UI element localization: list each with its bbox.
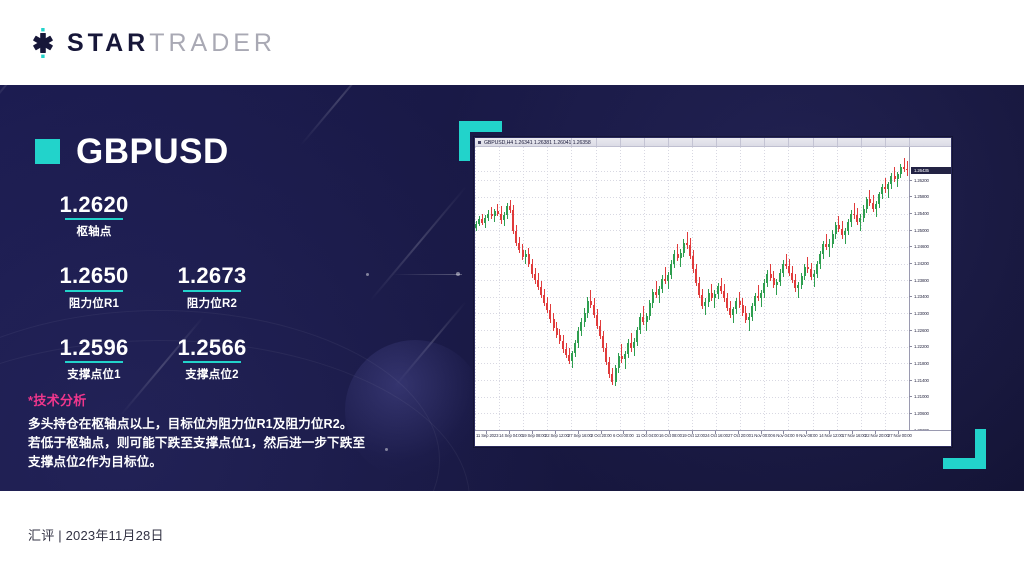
page-title: GBPUSD (76, 134, 229, 169)
price-tick-label: 1.22600 (914, 327, 929, 334)
grid-line-horizontal (475, 363, 909, 364)
pivot-row: 1.2620 枢轴点 (35, 193, 285, 239)
grid-line-horizontal (475, 247, 909, 248)
candle-body (850, 214, 852, 222)
candle-body (599, 326, 601, 336)
candle-body (553, 319, 555, 327)
candle-body (478, 219, 480, 224)
candle-body (497, 211, 499, 213)
current-price-value: 1.26435 (914, 167, 929, 174)
footer-caption: 汇评 | 2023年11月28日 (28, 525, 164, 544)
grid-line-horizontal (475, 330, 909, 331)
candle-body (776, 282, 778, 285)
price-tick-label: 1.21400 (914, 377, 929, 384)
titlebar-separator (571, 138, 572, 147)
titlebar-separator (861, 138, 862, 147)
time-tick-label: 22 Nov 20:00 (865, 433, 889, 439)
titlebar-separator (692, 138, 693, 147)
candle-body (701, 295, 703, 306)
pivot-levels: 1.2620 枢轴点 1.2650 阻力位R1 1.2673 阻力位R2 (35, 193, 285, 382)
candle-wick (829, 239, 830, 256)
price-tick: 1.24200 (909, 260, 951, 267)
candle-body (704, 302, 706, 306)
price-tick: 1.21800 (909, 360, 951, 367)
candle-body (847, 222, 849, 231)
candle-body (835, 225, 837, 233)
price-tick: 1.21400 (909, 377, 951, 384)
chart-ohlc-label: GBPUSD,H4 1.26341 1.26381 1.26041 1.2635… (484, 139, 591, 147)
candle-body (763, 283, 765, 294)
time-axis[interactable]: 11 Sep 202314 Sep 04:0019 Sep 08:0022 Se… (475, 430, 951, 446)
candle-body (584, 313, 586, 321)
candle-body (611, 374, 613, 381)
candle-body (813, 274, 815, 277)
price-tick-label: 1.20600 (914, 410, 929, 417)
candle-body (859, 218, 861, 222)
candle-body (828, 244, 830, 247)
level-s2-label: 支撑点位2 (153, 366, 271, 382)
time-tick-label: 19 Oct 12:00 (682, 433, 705, 439)
price-tick: 1.25400 (909, 210, 951, 217)
candle-body (537, 280, 539, 287)
level-r1: 1.2650 阻力位R1 (35, 264, 153, 310)
candle-body (732, 309, 734, 315)
page-header: STAR TRADER (0, 0, 1024, 85)
candle-wick (656, 281, 657, 298)
titlebar-separator (885, 138, 886, 147)
price-tick: 1.23400 (909, 293, 951, 300)
candle-wick (838, 216, 839, 232)
time-tick-label: 6 Nov 04:00 (773, 433, 795, 439)
price-tick-label: 1.23400 (914, 293, 929, 300)
analysis-heading: *技术分析 (28, 390, 398, 409)
titlebar-separator (813, 138, 814, 147)
price-tick-mark (909, 330, 912, 331)
levels-spacer (35, 311, 285, 336)
candle-body (729, 308, 731, 315)
candle-wick (680, 249, 681, 267)
brand-logo: STAR TRADER (28, 28, 276, 58)
price-tick-label: 1.24200 (914, 260, 929, 267)
price-tick-mark (909, 396, 912, 397)
candle-body (636, 330, 638, 342)
technical-analysis: *技术分析 多头持仓在枢轴点以上，目标位为阻力位R1及阻力位R2。 若低于枢轴点… (28, 390, 398, 472)
candle-body (621, 356, 623, 359)
candle-body (574, 343, 576, 353)
candle-body (816, 264, 818, 273)
candle-body (720, 286, 722, 291)
price-tick-mark (909, 196, 912, 197)
candle-body (615, 368, 617, 381)
candle-body (596, 315, 598, 326)
candle-body (884, 187, 886, 189)
candle-body (900, 167, 902, 174)
candle-body (698, 283, 700, 295)
candle-body (649, 303, 651, 315)
candle-body (822, 244, 824, 254)
price-tick: 1.25800 (909, 193, 951, 200)
candle-body (735, 301, 737, 309)
candle-body (711, 293, 713, 298)
candle-body (673, 254, 675, 264)
titlebar-separator (909, 138, 910, 147)
candle-body (695, 269, 697, 282)
level-s2-value: 1.2566 (153, 336, 271, 359)
candle-body (655, 292, 657, 295)
candle-wick (826, 234, 827, 251)
candle-wick (665, 267, 666, 284)
level-r2: 1.2673 阻力位R2 (153, 264, 271, 310)
price-tick-mark (909, 296, 912, 297)
level-underline (183, 361, 241, 363)
candle-body (518, 243, 520, 250)
level-s1: 1.2596 支撑点位1 (35, 336, 153, 382)
candle-body (726, 298, 728, 307)
chart-symbol-icon (478, 141, 481, 144)
candle-body (745, 313, 747, 320)
grid-line-horizontal (475, 214, 909, 215)
analysis-line-3: 支撑点位2作为目标位。 (28, 453, 398, 472)
candle-wick (677, 244, 678, 261)
corner-bracket-top-left (459, 121, 470, 161)
candle-wick (525, 250, 526, 264)
level-underline (65, 218, 123, 220)
candle-body (512, 210, 514, 231)
candle-body (608, 362, 610, 374)
page-footer: 汇评 | 2023年11月28日 (0, 491, 1024, 576)
candle-body (683, 243, 685, 253)
instrument-title: GBPUSD (35, 134, 229, 169)
price-tick-mark (909, 380, 912, 381)
candle-body (894, 176, 896, 178)
candle-body (853, 214, 855, 216)
level-r1-label: 阻力位R1 (35, 295, 153, 311)
grid-line-horizontal (475, 347, 909, 348)
level-underline (183, 290, 241, 292)
price-tick-label: 1.26200 (914, 177, 929, 184)
grid-line-vertical (813, 147, 814, 430)
grid-line-horizontal (475, 197, 909, 198)
candle-body (546, 303, 548, 310)
candle-body (593, 305, 595, 315)
promo-card: STAR TRADER GBPUSD (0, 0, 1024, 576)
candle-wick (854, 203, 855, 219)
levels-spacer (35, 239, 285, 264)
candle-body (779, 273, 781, 282)
trading-chart-window[interactable]: GBPUSD,H4 1.26341 1.26381 1.26041 1.2635… (474, 137, 952, 447)
candle-body (531, 264, 533, 275)
candle-body (658, 289, 660, 295)
candle-body (766, 274, 768, 283)
analysis-line-1: 多头持仓在枢轴点以上，目标位为阻力位R1及阻力位R2。 (28, 415, 398, 434)
grid-line-vertical (475, 147, 476, 430)
candle-wick (758, 285, 759, 301)
grid-line-vertical (620, 147, 621, 430)
price-tick-mark (909, 280, 912, 281)
candle-body (819, 254, 821, 264)
chart-titlebar: GBPUSD,H4 1.26341 1.26381 1.26041 1.2635… (475, 138, 951, 147)
time-tick-label: 6 Oct 00:00 (613, 433, 634, 439)
level-pivot-label: 枢轴点 (35, 223, 153, 239)
chart-plot-area[interactable]: 1.264351.262001.258001.254001.250001.246… (475, 147, 951, 430)
time-tick-label: 9 Nov 08:00 (796, 433, 818, 439)
titlebar-separator (716, 138, 717, 147)
candle-body (677, 254, 679, 258)
time-tick-label: 2 Oct 20:00 (591, 433, 612, 439)
price-tick: 1.23800 (909, 277, 951, 284)
candle-body (773, 278, 775, 285)
candle-body (708, 293, 710, 302)
grid-line-vertical (596, 147, 597, 430)
candlestick-series (475, 147, 909, 430)
grid-line-horizontal (475, 313, 909, 314)
candle-body (580, 322, 582, 331)
price-tick-mark (909, 346, 912, 347)
price-tick-label: 1.24600 (914, 243, 929, 250)
candle-body (875, 204, 877, 209)
time-tick-label: 27 Oct 20:00 (728, 433, 751, 439)
candle-body (760, 293, 762, 297)
candle-body (856, 215, 858, 222)
price-tick-mark (909, 313, 912, 314)
titlebar-separator (596, 138, 597, 147)
candle-body (801, 276, 803, 285)
candle-body (500, 214, 502, 221)
titlebar-separator (620, 138, 621, 147)
candle-body (646, 316, 648, 322)
level-r1-value: 1.2650 (35, 264, 153, 287)
candle-body (782, 264, 784, 273)
titlebar-separator (764, 138, 765, 147)
candle-body (618, 356, 620, 368)
candle-body (652, 292, 654, 304)
candle-body (525, 254, 527, 257)
time-tick-label: 14 Sep 04:00 (499, 433, 523, 439)
candle-body (714, 294, 716, 297)
time-tick-label: 14 Nov 12:00 (819, 433, 843, 439)
candle-body (717, 286, 719, 294)
level-s1-label: 支撑点位1 (35, 366, 153, 382)
grid-line-vertical (499, 147, 500, 430)
price-tick-label: 1.22200 (914, 343, 929, 350)
candle-wick (621, 344, 622, 362)
candle-wick (894, 167, 895, 182)
brand-name-bold: STAR (67, 31, 149, 56)
candle-wick (643, 306, 644, 325)
level-r2-value: 1.2673 (153, 264, 271, 287)
titlebar-separator (644, 138, 645, 147)
candle-wick (869, 190, 870, 206)
level-s2: 1.2566 支撑点位2 (153, 336, 271, 382)
analysis-body: 多头持仓在枢轴点以上，目标位为阻力位R1及阻力位R2。 若低于枢轴点，则可能下跌… (28, 415, 398, 472)
price-tick: 1.22600 (909, 327, 951, 334)
candle-body (633, 342, 635, 349)
candle-body (642, 317, 644, 322)
candle-wick (590, 290, 591, 308)
candle-body (739, 301, 741, 305)
grid-line-vertical (644, 147, 645, 430)
candle-body (605, 348, 607, 361)
candle-wick (786, 254, 787, 270)
grid-line-vertical (547, 147, 548, 430)
candle-body (577, 331, 579, 343)
price-tick-label: 1.25400 (914, 210, 929, 217)
candle-body (751, 306, 753, 317)
candle-body (748, 317, 750, 320)
grid-line-horizontal (475, 180, 909, 181)
support-row: 1.2596 支撑点位1 1.2566 支撑点位2 (35, 336, 285, 382)
level-underline (65, 290, 123, 292)
candle-body (754, 296, 756, 306)
candle-body (742, 305, 744, 312)
candle-body (503, 215, 505, 220)
candle-body (807, 267, 809, 269)
price-tick: 1.23000 (909, 310, 951, 317)
candle-body (667, 275, 669, 281)
candle-wick (714, 290, 715, 307)
titlebar-separator (837, 138, 838, 147)
price-tick-mark (909, 230, 912, 231)
candle-body (556, 328, 558, 335)
titlebar-separator (668, 138, 669, 147)
candle-body (549, 310, 551, 319)
candle-body (757, 296, 759, 298)
grid-line-vertical (523, 147, 524, 430)
time-tick-label: 1 Nov 00:00 (751, 433, 773, 439)
candle-body (487, 214, 489, 218)
candle-body (797, 285, 799, 288)
candle-body (887, 184, 889, 189)
price-tick: 1.21000 (909, 393, 951, 400)
candle-body (869, 199, 871, 202)
candle-body (788, 266, 790, 273)
candle-wick (807, 257, 808, 273)
candle-body (878, 194, 880, 203)
candle-body (723, 291, 725, 298)
candle-body (770, 274, 772, 278)
price-tick-mark (909, 263, 912, 264)
candle-body (639, 317, 641, 330)
candle-body (491, 214, 493, 216)
candle-body (528, 254, 530, 264)
time-tick-label: 27 Sep 16:00 (568, 433, 592, 439)
candle-wick (885, 178, 886, 193)
grid-line-vertical (692, 147, 693, 430)
candle-body (866, 199, 868, 208)
candle-body (838, 225, 840, 228)
candle-body (515, 231, 517, 243)
candle-body (568, 355, 570, 361)
price-tick-label: 1.21800 (914, 360, 929, 367)
level-r2-label: 阻力位R2 (153, 295, 271, 311)
candle-body (686, 243, 688, 245)
candle-body (804, 267, 806, 276)
price-axis[interactable]: 1.264351.262001.258001.254001.250001.246… (909, 147, 951, 430)
price-tick-mark (909, 180, 912, 181)
price-tick-mark (909, 363, 912, 364)
candle-body (832, 234, 834, 244)
candle-body (494, 211, 496, 216)
candle-body (863, 209, 865, 218)
level-pivot-value: 1.2620 (35, 193, 153, 216)
candle-body (590, 301, 592, 305)
title-accent-square (35, 139, 60, 164)
corner-bracket-bottom-right (975, 429, 986, 469)
candle-body (664, 279, 666, 281)
level-underline (65, 361, 123, 363)
current-price-tag: 1.26435 (911, 167, 951, 174)
price-tick-label: 1.23000 (914, 310, 929, 317)
time-tick-label: 16 Oct 08:00 (659, 433, 682, 439)
candle-wick (904, 158, 905, 172)
candle-body (825, 244, 827, 246)
brand-name-light: TRADER (149, 31, 276, 56)
candle-body (692, 256, 694, 269)
price-tick-label: 1.25800 (914, 193, 929, 200)
candle-body (810, 269, 812, 276)
time-tick-label: 24 Oct 16:00 (705, 433, 728, 439)
brand-name: STAR TRADER (67, 31, 276, 56)
candle-body (571, 353, 573, 360)
level-s1-value: 1.2596 (35, 336, 153, 359)
price-tick: 1.20600 (909, 410, 951, 417)
price-tick-mark (909, 246, 912, 247)
candle-body (559, 335, 561, 341)
candle-body (872, 203, 874, 209)
price-tick-mark (909, 413, 912, 414)
price-tick-label: 1.21000 (914, 393, 929, 400)
candle-body (562, 341, 564, 349)
candle-body (670, 264, 672, 276)
titlebar-separator (740, 138, 741, 147)
candle-body (624, 354, 626, 359)
candle-body (534, 274, 536, 280)
price-tick-mark (909, 213, 912, 214)
time-tick-label: 19 Sep 08:00 (522, 433, 546, 439)
candle-body (630, 343, 632, 349)
candle-body (890, 176, 892, 184)
candle-body (484, 218, 486, 223)
time-tick-label: 22 Sep 12:00 (545, 433, 569, 439)
candle-body (543, 295, 545, 302)
candle-body (794, 280, 796, 288)
grid-line-horizontal (475, 171, 909, 172)
candle-body (881, 187, 883, 194)
candle-body (906, 169, 908, 171)
candle-body (587, 301, 589, 313)
asterisk-logo-icon (28, 28, 58, 58)
candle-body (689, 245, 691, 256)
level-pivot: 1.2620 枢轴点 (35, 193, 153, 239)
candle-body (481, 219, 483, 223)
candle-body (506, 206, 508, 215)
candle-body (522, 250, 524, 257)
price-tick: 1.26200 (909, 177, 951, 184)
grid-line-horizontal (475, 380, 909, 381)
time-tick-label: 11 Oct 04:00 (636, 433, 659, 439)
candle-body (475, 224, 477, 229)
candle-body (509, 206, 511, 210)
price-tick: 1.24600 (909, 243, 951, 250)
titlebar-separator (788, 138, 789, 147)
grid-line-horizontal (475, 397, 909, 398)
price-tick-label: 1.23800 (914, 277, 929, 284)
grid-line-vertical (571, 147, 572, 430)
price-tick: 1.22200 (909, 343, 951, 350)
candle-body (841, 229, 843, 236)
candle-body (627, 343, 629, 355)
price-tick: 1.25000 (909, 227, 951, 234)
